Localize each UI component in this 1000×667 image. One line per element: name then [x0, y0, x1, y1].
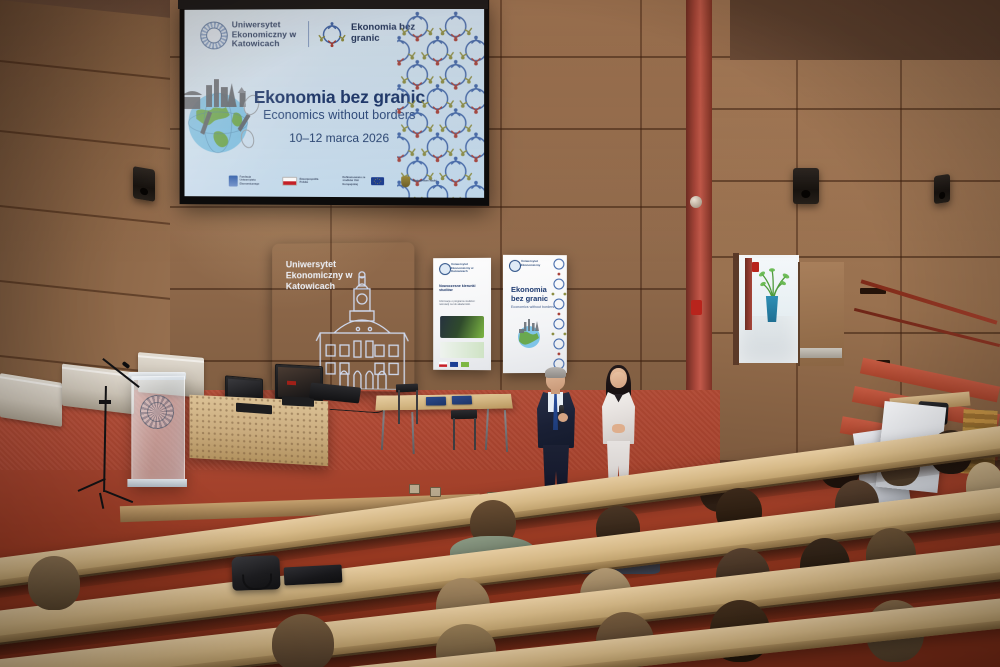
- floor-socket: [409, 484, 420, 494]
- door-jamb: [733, 253, 739, 365]
- rollup-footer-logos: [439, 362, 469, 367]
- screen-roller-housing: [178, 0, 488, 9]
- logo-divider: [308, 21, 309, 47]
- sponsor-logo: Rzeczpospolita Polska: [282, 176, 325, 185]
- floor-socket: [430, 487, 441, 497]
- rollup-lower-graphic: [440, 342, 484, 358]
- globe-landmarks-icon: [513, 317, 547, 351]
- university-seal-icon: [200, 21, 228, 49]
- presentation-table: [375, 394, 513, 411]
- sensor-icon: [690, 196, 702, 208]
- lectern-base: [127, 479, 187, 487]
- av-indicator-light: [287, 381, 296, 385]
- backpack-strap: [242, 573, 273, 590]
- projection-screen: Uniwersytet Ekonomiczny w Katowicach: [180, 0, 490, 206]
- rollup-banner-right: Uniwersytet Ekonomiczny Ekonomia bez gra…: [503, 255, 567, 373]
- rollup-logo-text: Uniwersytet Ekonomiczny: [521, 260, 553, 267]
- hair: [545, 367, 566, 378]
- face: [611, 372, 626, 388]
- people-ring-pattern-icon: [551, 255, 567, 373]
- sponsor-name: Fundacja Uniwersytetu Ekonomicznego: [240, 176, 266, 185]
- sponsor-name: Rzeczpospolita Polska: [300, 178, 326, 184]
- people-ring-pattern-icon: [397, 8, 484, 198]
- slide-content: Uniwersytet Ekonomiczny w Katowicach: [185, 8, 485, 198]
- wall-speaker-right: [934, 174, 950, 204]
- hands: [612, 424, 625, 433]
- hand: [558, 413, 568, 422]
- conference-folder: [452, 396, 472, 405]
- radiator: [62, 364, 134, 415]
- sponsor-name: Ministerstwo Nauki: [413, 180, 439, 183]
- wall-speaker-left: [133, 166, 155, 202]
- fire-alarm-icon[interactable]: [691, 300, 702, 315]
- polish-flag-icon: [282, 176, 297, 185]
- glass-lectern: [131, 376, 185, 487]
- eu-flag-icon: [371, 177, 384, 185]
- university-seal-icon: [509, 260, 521, 272]
- sponsor-logo: Fundacja Uniwersytetu Ekonomicznego: [228, 175, 265, 186]
- sponsor-logo: Dofinansowano ze środków Unii Europejski…: [342, 176, 384, 185]
- university-seal-icon: [140, 395, 174, 429]
- door-kickplate: [800, 348, 842, 358]
- rollup-headline: Nowoczesne kierunki studiów: [439, 284, 483, 293]
- polish-crest-icon: [401, 176, 410, 187]
- potted-plant-icon: [756, 265, 790, 301]
- slide-university-name: Uniwersytet Ekonomiczny w Katowicach: [232, 20, 303, 49]
- audience-head: [272, 614, 334, 667]
- rollup-logo-text: Uniwersytet Ekonomiczny w Katowicach: [451, 263, 483, 274]
- rollup-banner-left: Uniwersytet Ekonomiczny w Katowicach Now…: [433, 258, 491, 370]
- backpack: [231, 555, 280, 591]
- foundation-mark-icon: [228, 175, 237, 186]
- people-circle-icon: [318, 21, 346, 48]
- red-column: [686, 0, 712, 420]
- laptop[interactable]: [284, 564, 343, 585]
- sponsor-name: Dofinansowano ze środków Unii Europejski…: [342, 176, 368, 185]
- conference-folder: [426, 397, 446, 406]
- university-building-outline-icon: [314, 271, 410, 390]
- corridor-column: [745, 258, 752, 330]
- campus-photo-icon: [440, 316, 484, 338]
- audience-head: [28, 556, 80, 610]
- wall-speaker-center: [793, 168, 819, 204]
- university-seal-icon: [439, 263, 451, 275]
- sponsor-logo-strip: Fundacja Uniwersytetu Ekonomicznego Rzec…: [185, 170, 485, 191]
- lecture-hall-photo: Uniwersytet Ekonomiczny w Katowicach: [0, 0, 1000, 667]
- speaker-man: [535, 369, 577, 501]
- sponsor-logo: Ministerstwo Nauki: [401, 176, 439, 187]
- rollup-body-text: Informacje o programie studiów i rekruta…: [439, 300, 483, 306]
- microphone-clamp: [99, 400, 111, 404]
